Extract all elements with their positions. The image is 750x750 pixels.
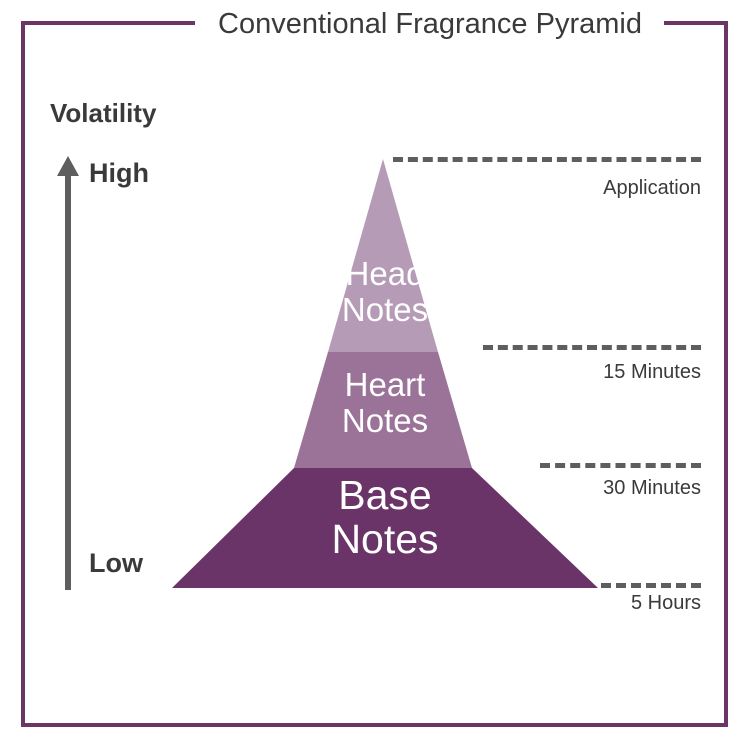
guide-line-five-hours bbox=[601, 583, 701, 588]
guide-label-fifteen-minutes: 15 Minutes bbox=[501, 361, 701, 384]
volatility-low-label: Low bbox=[89, 548, 143, 579]
guide-label-thirty-minutes: 30 Minutes bbox=[501, 477, 701, 500]
volatility-up-arrow-icon bbox=[56, 156, 80, 590]
pyramid-band-heart bbox=[294, 352, 472, 468]
frame-bottom-segment bbox=[21, 723, 728, 727]
volatility-axis-label: Volatility bbox=[50, 98, 156, 129]
diagram-title: Conventional Fragrance Pyramid bbox=[195, 5, 665, 43]
frame-top-left-segment bbox=[21, 21, 195, 25]
guide-label-application: Application bbox=[421, 177, 701, 200]
frame-right-segment bbox=[724, 21, 728, 727]
guide-line-fifteen-minutes bbox=[483, 345, 701, 350]
guide-line-application bbox=[393, 157, 701, 162]
guide-line-thirty-minutes bbox=[540, 463, 701, 468]
frame-top-right-segment bbox=[664, 21, 728, 25]
fragrance-pyramid-diagram: Conventional Fragrance Pyramid Volatilit… bbox=[0, 0, 750, 750]
frame-left-segment bbox=[21, 21, 25, 727]
volatility-high-label: High bbox=[89, 158, 149, 189]
guide-label-five-hours: 5 Hours bbox=[501, 592, 701, 615]
